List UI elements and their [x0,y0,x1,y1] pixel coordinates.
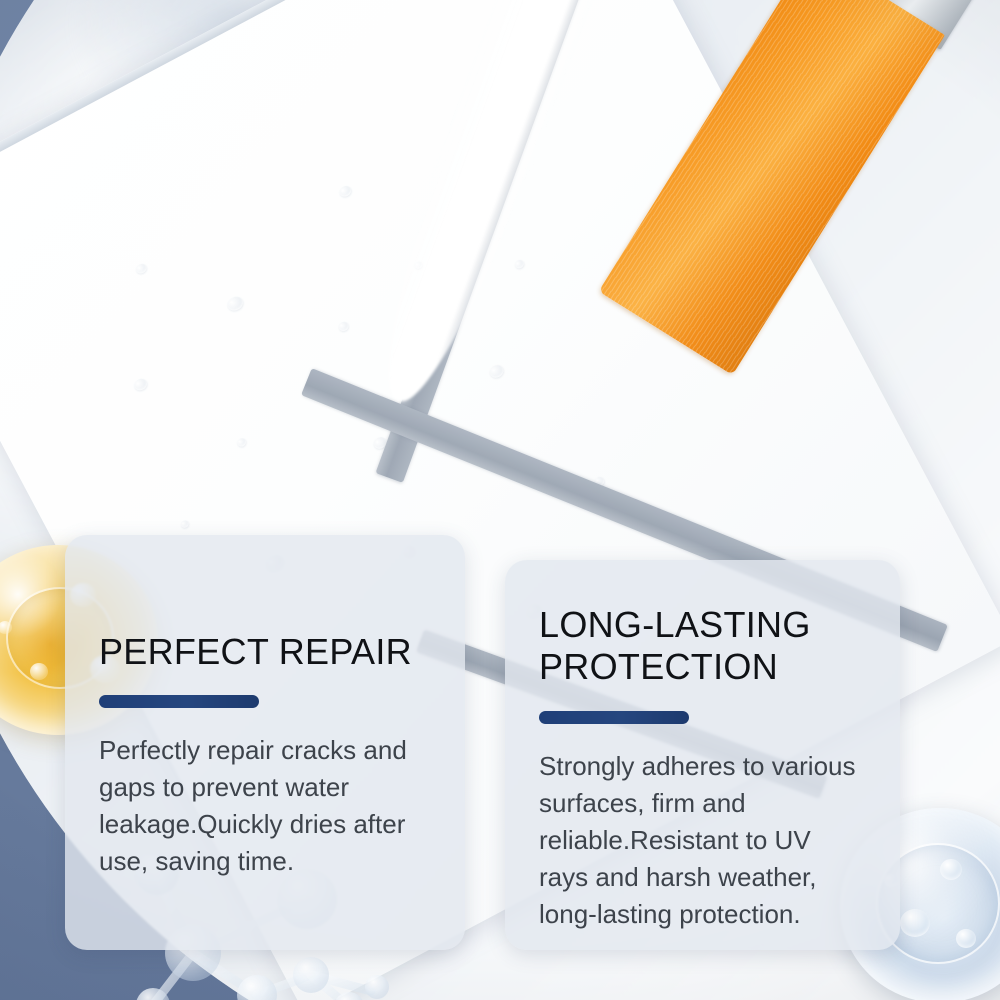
accent-bar [539,711,689,724]
card-body: Strongly adheres to various surfaces, fi… [539,748,866,933]
card-title: LONG-LASTING PROTECTION [539,560,866,689]
feature-card-perfect-repair: PERFECT REPAIR Perfectly repair cracks a… [65,535,465,950]
card-body: Perfectly repair cracks and gaps to prev… [99,732,431,880]
feature-card-long-lasting-protection: LONG-LASTING PROTECTION Strongly adheres… [505,560,900,950]
promo-banner: PERFECT REPAIR Perfectly repair cracks a… [0,0,1000,1000]
card-title: PERFECT REPAIR [99,535,431,673]
accent-bar [99,695,259,708]
